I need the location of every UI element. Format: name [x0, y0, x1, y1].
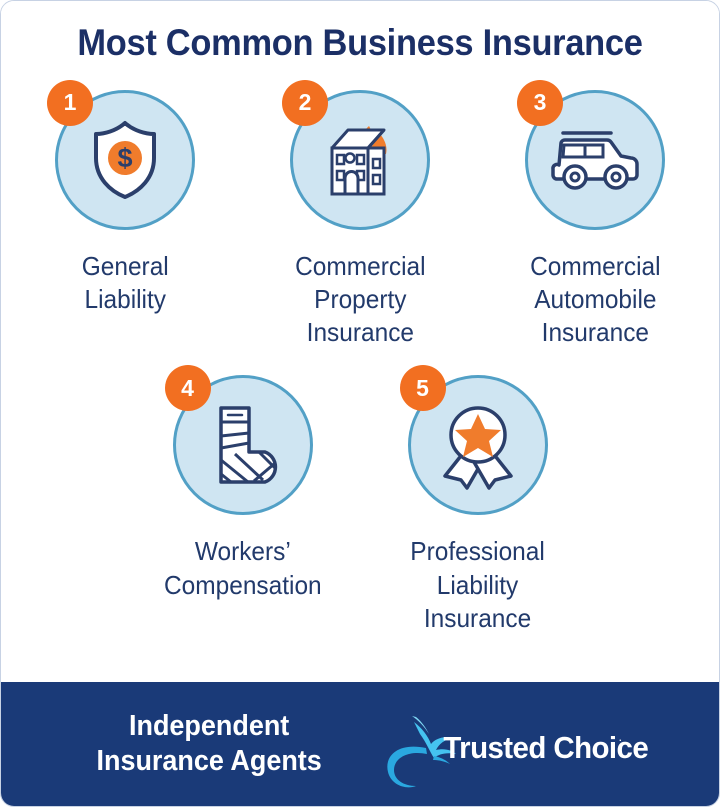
- insurance-item-label: General Liability: [82, 250, 169, 317]
- label-line: Workers’: [164, 535, 322, 568]
- footer-bar: Independent Insurance Agents Trusted Cho…: [1, 682, 719, 806]
- label-line: Insurance: [530, 316, 660, 349]
- trusted-choice-logo[interactable]: Trusted Choice ·: [382, 696, 632, 792]
- badge-number-2: 2: [282, 80, 328, 126]
- badge-number-3: 3: [517, 80, 563, 126]
- label-line: Insurance: [295, 316, 425, 349]
- badge-number-4: 4: [165, 365, 211, 411]
- label-line: Compensation: [164, 569, 322, 602]
- badge-number-5: 5: [400, 365, 446, 411]
- logo-trademark: ·: [618, 732, 622, 747]
- suv-vehicle-icon: [545, 123, 645, 197]
- label-line: Commercial: [530, 250, 660, 283]
- footer-tagline-line: Independent: [96, 709, 321, 744]
- label-line: General: [82, 250, 169, 283]
- label-line: Insurance: [410, 602, 544, 635]
- footer-tagline-line: Insurance Agents: [96, 744, 321, 779]
- shield-dollar-icon: $: [86, 118, 164, 202]
- icon-circle-wrap: 4: [169, 371, 317, 519]
- insurance-item-commercial-automobile[interactable]: 3: [478, 86, 713, 350]
- insurance-row-top: 1 $ General Liability: [1, 86, 719, 350]
- icon-circle-wrap: 1 $: [51, 86, 199, 234]
- insurance-item-label: Commercial Automobile Insurance: [530, 250, 660, 350]
- svg-text:$: $: [117, 143, 132, 173]
- insurance-item-label: Workers’ Compensation: [164, 535, 322, 602]
- label-line: Commercial: [295, 250, 425, 283]
- badge-number-1: 1: [47, 80, 93, 126]
- label-line: Property: [295, 283, 425, 316]
- icon-circle-wrap: 2: [286, 86, 434, 234]
- insurance-item-professional-liability[interactable]: 5 Professional L: [360, 371, 595, 635]
- icon-circle-wrap: 5: [404, 371, 552, 519]
- page-title: Most Common Business Insurance: [26, 23, 694, 64]
- footer-tagline: Independent Insurance Agents: [96, 709, 321, 780]
- label-line: Liability: [410, 569, 544, 602]
- label-line: Professional: [410, 535, 544, 568]
- label-line: Automobile: [530, 283, 660, 316]
- insurance-item-general-liability[interactable]: 1 $ General Liability: [8, 86, 243, 317]
- content-board: Most Common Business Insurance 1 $: [1, 1, 719, 682]
- bandaged-leg-cast-icon: [201, 402, 285, 488]
- insurance-item-label: Professional Liability Insurance: [410, 535, 544, 635]
- burning-building-icon: [314, 116, 406, 204]
- award-ribbon-star-icon: [433, 400, 523, 490]
- insurance-row-bottom: 4: [1, 371, 719, 635]
- insurance-item-label: Commercial Property Insurance: [295, 250, 425, 350]
- insurance-item-workers-compensation[interactable]: 4: [125, 371, 360, 602]
- label-line: Liability: [82, 283, 169, 316]
- icon-circle-wrap: 3: [521, 86, 669, 234]
- insurance-item-commercial-property[interactable]: 2: [243, 86, 478, 350]
- infographic-card: Most Common Business Insurance 1 $: [0, 0, 720, 807]
